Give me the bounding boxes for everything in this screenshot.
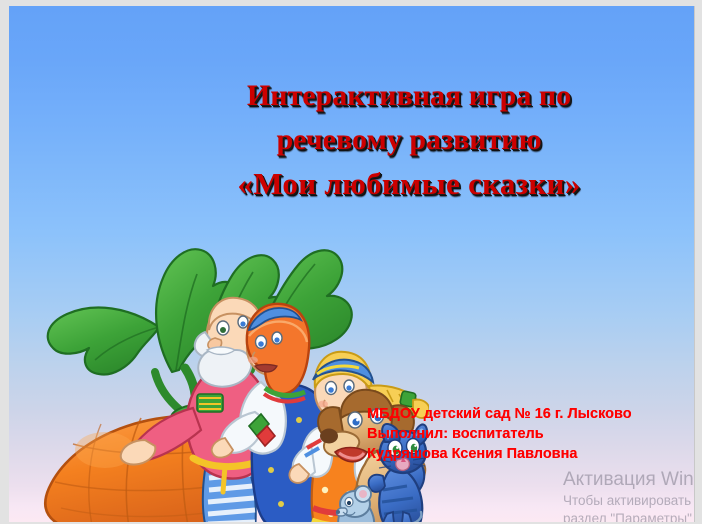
author-name-line: Кудряшова Ксения Павловна: [367, 444, 632, 464]
title-line-3: «Мои любимые сказки»: [159, 162, 659, 206]
illustration-repka-scene: [9, 202, 429, 522]
slide-title: Интерактивная игра по речевому развитию …: [159, 74, 659, 206]
title-line-2: речевому развитию: [159, 118, 659, 162]
watermark-subtitle-line-2: раздел "Параметры": [563, 510, 695, 522]
institution-line: МБДОУ детский сад № 16 г. Лысково: [367, 404, 632, 424]
role-line: Выполнил: воспитатель: [367, 424, 632, 444]
author-credits: МБДОУ детский сад № 16 г. Лысково Выполн…: [367, 404, 632, 464]
watermark-title: Активация Windows: [563, 468, 695, 492]
watermark-subtitle-line-1: Чтобы активировать: [563, 492, 695, 510]
title-line-1: Интерактивная игра по: [159, 74, 659, 118]
windows-activation-watermark: Активация Windows Чтобы активировать раз…: [563, 468, 695, 522]
presentation-slide: Интерактивная игра по речевому развитию …: [9, 6, 695, 522]
slide-viewer: Интерактивная игра по речевому развитию …: [0, 0, 702, 524]
